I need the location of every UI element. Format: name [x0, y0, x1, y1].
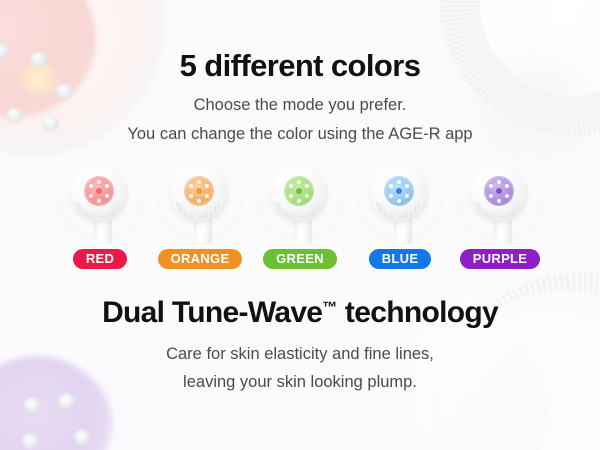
led-disc-orange — [184, 176, 214, 206]
led-dot — [289, 194, 293, 198]
device-illustration-blue — [352, 158, 448, 242]
technology-heading-main: Dual Tune-Wave — [102, 296, 322, 329]
led-dot — [389, 184, 393, 188]
color-badge-blue[interactable]: BLUE — [369, 249, 432, 269]
technology-description-line-1: Care for skin elasticity and fine lines, — [0, 346, 600, 363]
led-dot — [97, 199, 101, 203]
led-center-dot — [196, 188, 202, 194]
technology-description-line-2: leaving your skin looking plump. — [0, 374, 600, 391]
led-center-dot — [496, 188, 502, 194]
color-badge-green[interactable]: GREEN — [263, 249, 337, 269]
led-dot — [197, 199, 201, 203]
led-dot — [297, 199, 301, 203]
led-dot — [489, 184, 493, 188]
device-illustration-red — [52, 158, 148, 242]
led-dot — [305, 194, 309, 198]
led-dot — [297, 180, 301, 184]
led-disc-red — [84, 176, 114, 206]
led-dot — [89, 184, 93, 188]
led-center-dot — [96, 188, 102, 194]
color-options-row: REDORANGEGREENBLUEPURPLE — [52, 158, 548, 269]
device-illustration-green — [252, 158, 348, 242]
colors-section-subtitle-line-1: Choose the mode you prefer. — [0, 97, 600, 114]
color-badge-orange[interactable]: ORANGE — [158, 249, 243, 269]
led-disc-green — [284, 176, 314, 206]
led-dot — [189, 184, 193, 188]
led-dot — [289, 184, 293, 188]
led-dot — [397, 199, 401, 203]
technology-heading-tail: technology — [337, 296, 498, 329]
led-dot — [497, 199, 501, 203]
led-disc-blue — [384, 176, 414, 206]
color-option-red[interactable]: RED — [52, 158, 148, 269]
colors-section-subtitle-line-2: You can change the color using the AGE-R… — [0, 126, 600, 143]
device-illustration-orange — [152, 158, 248, 242]
technology-section-heading: Dual Tune-Wave™ technology — [0, 298, 600, 328]
led-dot — [89, 194, 93, 198]
led-dot — [405, 184, 409, 188]
led-dot — [105, 194, 109, 198]
led-dot — [389, 194, 393, 198]
led-dot — [97, 180, 101, 184]
led-dot — [205, 184, 209, 188]
content-root: 5 different colors Choose the mode you p… — [0, 0, 600, 450]
led-dot — [397, 180, 401, 184]
led-center-dot — [396, 188, 402, 194]
colors-section-heading: 5 different colors — [0, 50, 600, 81]
promo-page: 5 different colors Choose the mode you p… — [0, 0, 600, 450]
led-dot — [489, 194, 493, 198]
color-option-blue[interactable]: BLUE — [352, 158, 448, 269]
led-dot — [505, 184, 509, 188]
led-dot — [305, 184, 309, 188]
color-option-orange[interactable]: ORANGE — [152, 158, 248, 269]
trademark-symbol: ™ — [322, 299, 337, 316]
led-dot — [189, 194, 193, 198]
led-disc-purple — [484, 176, 514, 206]
led-dot — [405, 194, 409, 198]
led-dot — [497, 180, 501, 184]
led-dot — [205, 194, 209, 198]
color-badge-red[interactable]: RED — [73, 249, 127, 269]
color-option-purple[interactable]: PURPLE — [452, 158, 548, 269]
led-dot — [505, 194, 509, 198]
led-center-dot — [296, 188, 302, 194]
color-option-green[interactable]: GREEN — [252, 158, 348, 269]
led-dot — [105, 184, 109, 188]
color-badge-purple[interactable]: PURPLE — [460, 249, 541, 269]
device-illustration-purple — [452, 158, 548, 242]
led-dot — [197, 180, 201, 184]
